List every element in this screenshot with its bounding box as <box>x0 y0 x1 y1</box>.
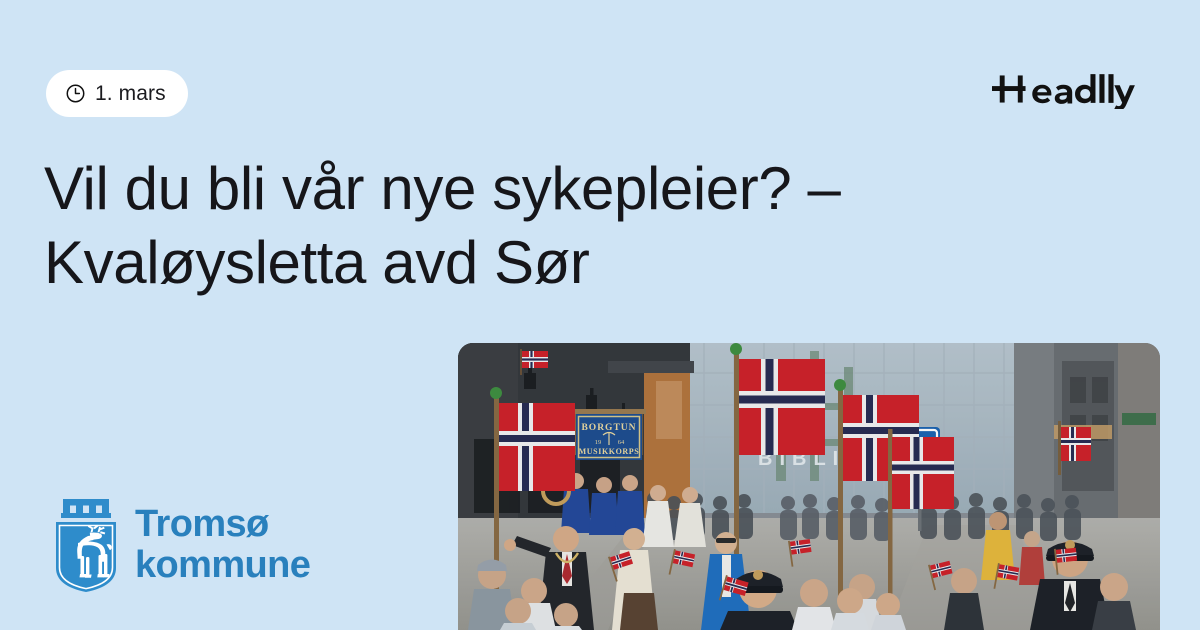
article-photo: BIBLIOTEK <box>458 343 1160 630</box>
tromso-coat-of-arms-icon <box>50 496 122 594</box>
article-share-card: 1. mars <box>0 0 1200 630</box>
date-badge: 1. mars <box>46 70 188 117</box>
parade-photo-illustration: BIBLIOTEK <box>458 343 1160 630</box>
brand-logo <box>992 66 1160 112</box>
headly-wordmark-icon <box>992 69 1160 109</box>
date-badge-label: 1. mars <box>95 83 166 104</box>
organization-name: Tromsø kommune <box>135 504 310 585</box>
page-title: Vil du bli vår nye sykepleier? – Kvaløys… <box>44 152 1054 300</box>
clock-icon <box>65 83 86 104</box>
organization-logo: Tromsø kommune <box>50 496 310 594</box>
